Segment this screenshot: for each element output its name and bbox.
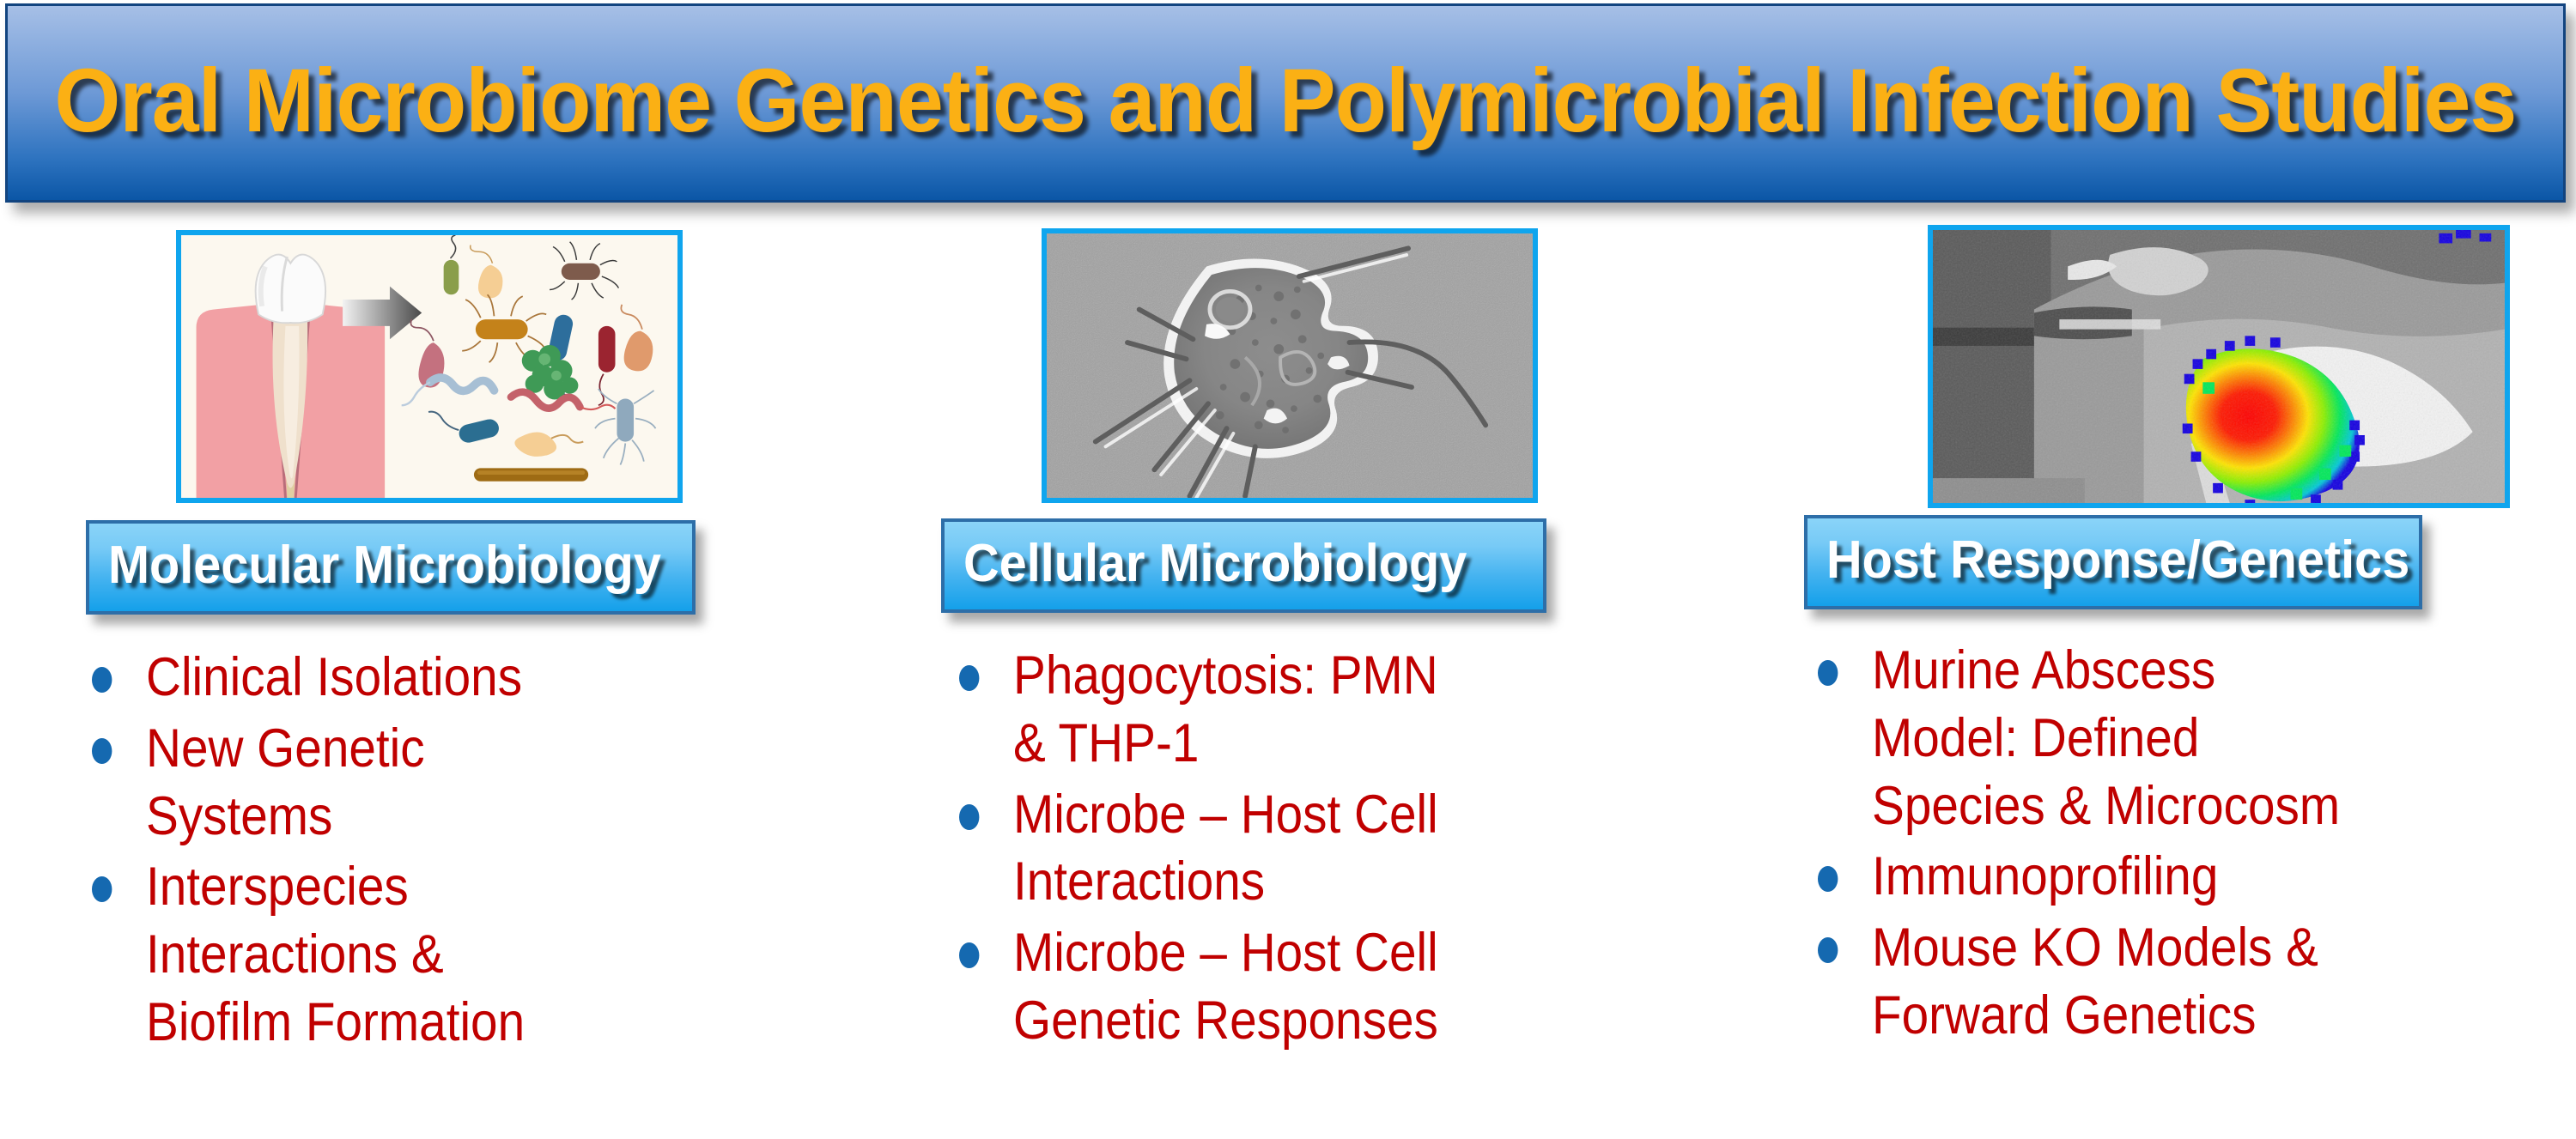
list-item-text: Interspecies Interactions & Biofilm Form… (146, 857, 525, 1052)
bullet-dot-icon (1818, 866, 1838, 892)
bullet-dot-icon (1818, 937, 1838, 963)
bullet-list-molecular-microbiology: Clinical Isolations New Genetic Systems … (69, 644, 618, 1060)
list-item-text: Phagocytosis: PMN & THP-1 (1013, 645, 1438, 773)
bullet-list-host-response-genetics: Murine Abscess Model: Defined Species & … (1795, 637, 2413, 1053)
list-item: Clinical Isolations (69, 644, 563, 712)
bullet-dot-icon (959, 804, 979, 830)
list-item: New Genetic Systems (69, 715, 563, 851)
category-box-host-response-genetics[interactable]: Host Response/Genetics (1804, 515, 2422, 609)
bullet-list-cellular-microbiology: Phagocytosis: PMN & THP-1 Microbe – Host… (936, 642, 1537, 1058)
list-item: Interspecies Interactions & Biofilm Form… (69, 853, 563, 1056)
mouse-bioluminescence-svg (1933, 230, 2505, 503)
list-item-text: Immunoprofiling (1872, 846, 2218, 906)
list-item-text: Clinical Isolations (146, 647, 522, 707)
bullet-dot-icon (959, 665, 979, 691)
phagocyte-micrograph-svg (1047, 233, 1533, 498)
slide-title-banner: Oral Microbiome Genetics and Polymicrobi… (5, 3, 2566, 203)
category-label: Molecular Microbiology (108, 539, 661, 597)
tooth-and-oral-microbes-illustration (176, 230, 683, 503)
category-box-cellular-microbiology[interactable]: Cellular Microbiology (941, 518, 1546, 613)
list-item-text: Microbe – Host Cell Interactions (1013, 785, 1438, 912)
category-label: Cellular Microbiology (963, 537, 1467, 595)
list-item-text: Microbe – Host Cell Genetic Responses (1013, 923, 1438, 1051)
bullet-dot-icon (959, 942, 979, 968)
phagocyte-phase-contrast-micrograph (1042, 228, 1538, 503)
tooth-microbes-svg (181, 235, 677, 498)
list-item: Microbe – Host Cell Interactions (936, 781, 1477, 917)
list-item: Murine Abscess Model: Defined Species & … (1795, 637, 2351, 839)
category-box-molecular-microbiology[interactable]: Molecular Microbiology (86, 520, 696, 615)
list-item-text: New Genetic Systems (146, 718, 425, 846)
murine-bioluminescence-abscess-image (1928, 225, 2510, 508)
bullet-dot-icon (92, 738, 112, 764)
list-item: Mouse KO Models & Forward Genetics (1795, 914, 2351, 1050)
list-item: Immunoprofiling (1795, 843, 2351, 911)
bullet-dot-icon (92, 876, 112, 902)
category-label: Host Response/Genetics (1826, 534, 2409, 591)
list-item-text: Murine Abscess Model: Defined Species & … (1872, 640, 2340, 836)
list-item-text: Mouse KO Models & Forward Genetics (1872, 918, 2318, 1045)
bullet-dot-icon (1818, 660, 1838, 686)
page-title: Oral Microbiome Genetics and Polymicrobi… (55, 56, 2517, 151)
list-item: Phagocytosis: PMN & THP-1 (936, 642, 1477, 778)
bullet-dot-icon (92, 667, 112, 693)
list-item: Microbe – Host Cell Genetic Responses (936, 919, 1477, 1055)
